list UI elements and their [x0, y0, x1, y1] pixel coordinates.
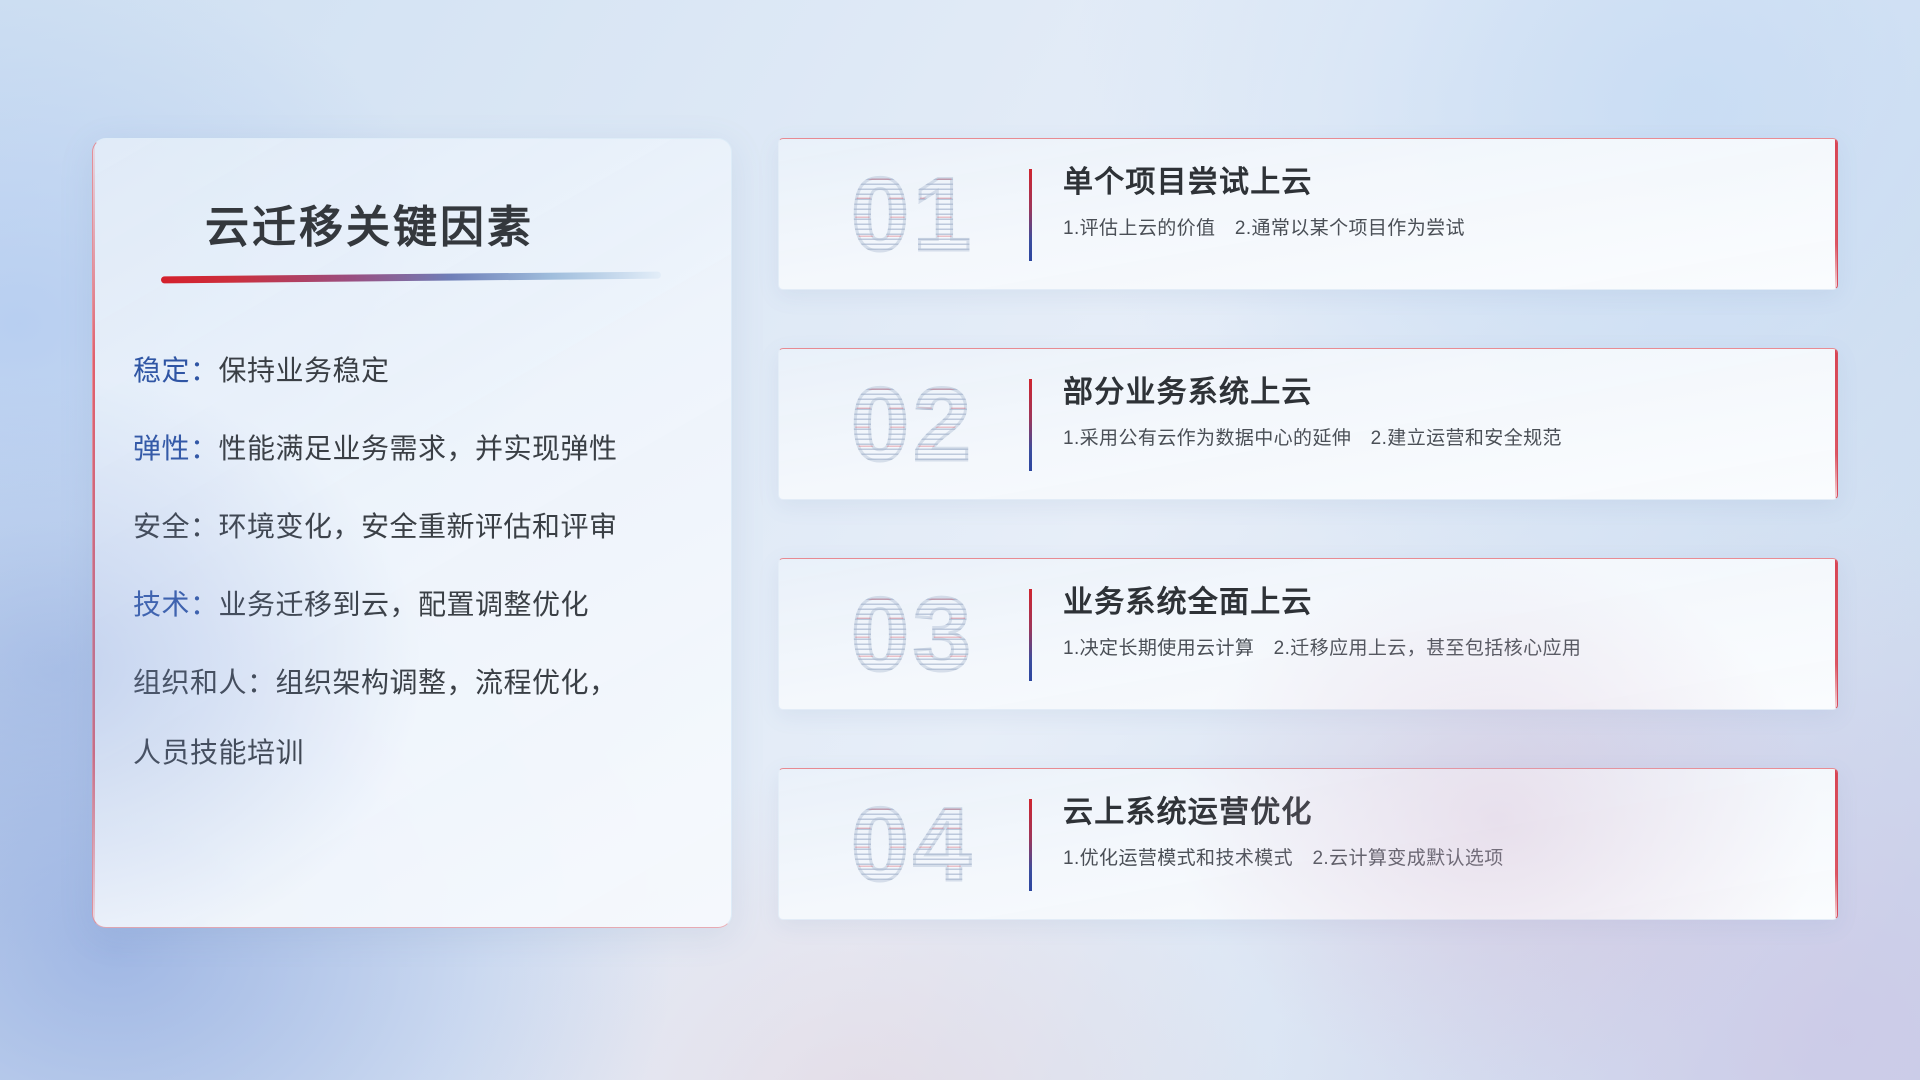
factor-item-organization-continued: 人员技能培训 [133, 739, 707, 767]
stage-title: 单个项目尝试上云 [1063, 163, 1815, 202]
stage-card-body: 部分业务系统上云 1.采用公有云作为数据中心的延伸 2.建立运营和安全规范 [1063, 373, 1815, 452]
stage-subtitle: 1.决定长期使用云计算 2.迁移应用上云，甚至包括核心应用 [1063, 636, 1815, 662]
stage-card-body: 云上系统运营优化 1.优化运营模式和技术模式 2.云计算变成默认选项 [1063, 793, 1815, 872]
factor-text: 业务迁移到云，配置调整优化 [219, 589, 590, 620]
slide-canvas: 云迁移关键因素 稳定：保持业务稳定 弹性：性能满足业务需求，并实现弹性 安全：环… [0, 0, 1920, 1080]
page-title: 云迁移关键因素 [205, 191, 534, 255]
factor-item-technology: 技术：业务迁移到云，配置调整优化 [133, 591, 707, 619]
stage-title: 云上系统运营优化 [1063, 793, 1815, 832]
stage-card-01[interactable]: 01 01 单个项目尝试上云 1.评估上云的价值 2.通常以某个项目作为尝试 [778, 138, 1838, 290]
factor-text: 保持业务稳定 [219, 355, 390, 386]
stage-card-04[interactable]: 04 04 云上系统运营优化 1.优化运营模式和技术模式 2.云计算变成默认选项 [778, 768, 1838, 920]
factor-item-organization: 组织和人：组织架构调整，流程优化， [133, 669, 707, 697]
stage-subtitle: 1.优化运营模式和技术模式 2.云计算变成默认选项 [1063, 846, 1815, 872]
factor-label: 技术： [133, 589, 219, 620]
factor-item-security: 安全：环境变化，安全重新评估和评审 [133, 513, 707, 541]
factor-label: 组织和人： [133, 667, 276, 698]
stage-title: 业务系统全面上云 [1063, 583, 1815, 622]
stage-subtitle: 1.评估上云的价值 2.通常以某个项目作为尝试 [1063, 216, 1815, 242]
stage-divider-bar [1029, 169, 1032, 261]
factor-text: 性能满足业务需求，并实现弹性 [219, 433, 618, 464]
factor-label: 安全： [133, 511, 219, 542]
factor-label: 弹性： [133, 433, 219, 464]
key-factors-panel: 云迁移关键因素 稳定：保持业务稳定 弹性：性能满足业务需求，并实现弹性 安全：环… [92, 138, 732, 928]
stage-divider-bar [1029, 379, 1032, 471]
stage-card-03[interactable]: 03 03 业务系统全面上云 1.决定长期使用云计算 2.迁移应用上云，甚至包括… [778, 558, 1838, 710]
factor-item-elasticity: 弹性：性能满足业务需求，并实现弹性 [133, 435, 707, 463]
stage-subtitle: 1.采用公有云作为数据中心的延伸 2.建立运营和安全规范 [1063, 426, 1815, 452]
stage-number-04: 04 [815, 785, 1011, 905]
title-underline-gradient [161, 272, 661, 284]
stage-number-03: 03 [815, 575, 1011, 695]
stage-number-01: 01 [815, 155, 1011, 275]
factor-text: 人员技能培训 [133, 737, 304, 768]
stage-divider-bar [1029, 589, 1032, 681]
stage-divider-bar [1029, 799, 1032, 891]
factor-text: 环境变化，安全重新评估和评审 [219, 511, 618, 542]
factor-list: 稳定：保持业务稳定 弹性：性能满足业务需求，并实现弹性 安全：环境变化，安全重新… [133, 357, 707, 767]
stage-card-body: 单个项目尝试上云 1.评估上云的价值 2.通常以某个项目作为尝试 [1063, 163, 1815, 242]
factor-item-stability: 稳定：保持业务稳定 [133, 357, 707, 385]
stage-number-02: 02 [815, 365, 1011, 485]
migration-stage-cards: 01 01 单个项目尝试上云 1.评估上云的价值 2.通常以某个项目作为尝试 0… [778, 138, 1838, 920]
stage-card-02[interactable]: 02 02 部分业务系统上云 1.采用公有云作为数据中心的延伸 2.建立运营和安… [778, 348, 1838, 500]
stage-title: 部分业务系统上云 [1063, 373, 1815, 412]
stage-card-body: 业务系统全面上云 1.决定长期使用云计算 2.迁移应用上云，甚至包括核心应用 [1063, 583, 1815, 662]
factor-text: 组织架构调整，流程优化， [276, 667, 618, 698]
factor-label: 稳定： [133, 355, 219, 386]
